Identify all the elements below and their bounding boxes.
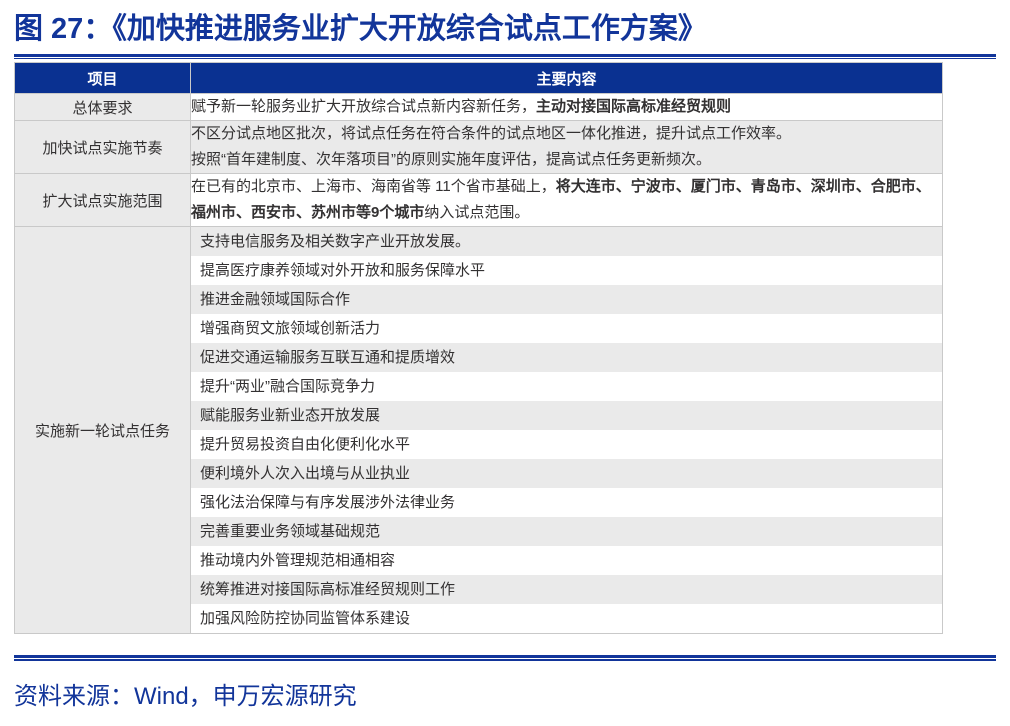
list-item: 支持电信服务及相关数字产业开放发展。 [191,227,942,256]
list-item: 提升贸易投资自由化便利化水平 [191,430,942,459]
table-row: 总体要求 赋予新一轮服务业扩大开放综合试点新内容新任务，主动对接国际高标准经贸规… [15,94,943,121]
list-item: 赋能服务业新业态开放发展 [191,401,942,430]
row-content-accelerate-pace: 不区分试点地区批次，将试点任务在符合条件的试点地区一体化推进，提升试点工作效率。… [191,121,943,174]
list-item: 加强风险防控协同监管体系建设 [191,604,942,633]
list-item: 推动境内外管理规范相通相容 [191,546,942,575]
footer-divider [14,655,996,661]
list-item: 促进交通运输服务互联互通和提质增效 [191,343,942,372]
content-text-plain: 赋予新一轮服务业扩大开放综合试点新内容新任务， [191,98,536,115]
list-item: 提升“两业”融合国际竞争力 [191,372,942,401]
page-title: 图 27：《加快推进服务业扩大开放综合试点工作方案》 [14,10,996,48]
content-text-part1: 在已有的北京市、上海市、海南省等 11个省市基础上， [191,178,556,195]
title-divider [14,54,996,59]
source-note: 资料来源：Wind，申万宏源研究 [14,676,357,711]
figure-title-block: 图 27：《加快推进服务业扩大开放综合试点工作方案》 [14,10,996,48]
list-item: 增强商贸文旅领域创新活力 [191,314,942,343]
policy-table: 项目 主要内容 总体要求 赋予新一轮服务业扩大开放综合试点新内容新任务，主动对接… [14,62,943,634]
row-label-accelerate-pace: 加快试点实施节奏 [15,121,191,174]
list-item: 推进金融领域国际合作 [191,285,942,314]
table-row: 实施新一轮试点任务 支持电信服务及相关数字产业开放发展。 提高医疗康养领域对外开… [15,227,943,634]
row-content-expand-scope: 在已有的北京市、上海市、海南省等 11个省市基础上，将大连市、宁波市、厦门市、青… [191,174,943,227]
list-item: 提高医疗康养领域对外开放和服务保障水平 [191,256,942,285]
list-item: 强化法治保障与有序发展涉外法律业务 [191,488,942,517]
data-table-wrapper: 项目 主要内容 总体要求 赋予新一轮服务业扩大开放综合试点新内容新任务，主动对接… [14,62,942,634]
column-header-item: 项目 [15,63,191,94]
table-body: 总体要求 赋予新一轮服务业扩大开放综合试点新内容新任务，主动对接国际高标准经贸规… [15,94,943,634]
table-header-row: 项目 主要内容 [15,63,943,94]
row-label-new-pilot-tasks: 实施新一轮试点任务 [15,227,191,634]
list-item: 便利境外人次入出境与从业执业 [191,459,942,488]
table-row: 扩大试点实施范围 在已有的北京市、上海市、海南省等 11个省市基础上，将大连市、… [15,174,943,227]
content-line-1: 不区分试点地区批次，将试点任务在符合条件的试点地区一体化推进，提升试点工作效率。 [191,121,942,147]
row-label-expand-scope: 扩大试点实施范围 [15,174,191,227]
list-item: 统筹推进对接国际高标准经贸规则工作 [191,575,942,604]
table-header: 项目 主要内容 [15,63,943,94]
row-content-new-pilot-tasks: 支持电信服务及相关数字产业开放发展。 提高医疗康养领域对外开放和服务保障水平 推… [191,227,943,634]
content-text-part3: 纳入试点范围。 [424,204,529,221]
row-content-overall-requirement: 赋予新一轮服务业扩大开放综合试点新内容新任务，主动对接国际高标准经贸规则 [191,94,943,121]
column-header-main: 主要内容 [191,63,943,94]
content-text-bold: 主动对接国际高标准经贸规则 [536,98,731,115]
row-label-overall-requirement: 总体要求 [15,94,191,121]
table-row: 加快试点实施节奏 不区分试点地区批次，将试点任务在符合条件的试点地区一体化推进，… [15,121,943,174]
content-line-2: 按照“首年建制度、次年落项目”的原则实施年度评估，提高试点任务更新频次。 [191,147,942,173]
list-item: 完善重要业务领域基础规范 [191,517,942,546]
figure-page: 图 27：《加快推进服务业扩大开放综合试点工作方案》 项目 主要内容 总体要求 … [0,0,1010,726]
